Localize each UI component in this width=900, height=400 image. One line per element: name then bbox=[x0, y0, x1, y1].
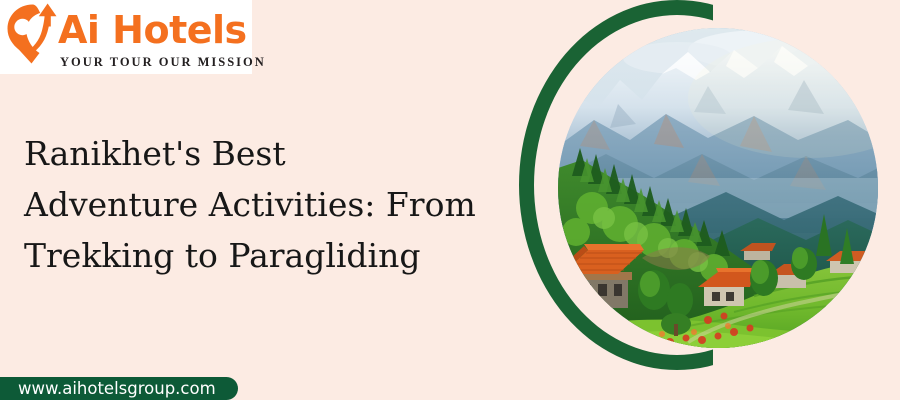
hero-visual bbox=[500, 0, 900, 400]
logo-wordmark: Ai Hotels bbox=[58, 8, 247, 52]
website-url-bar[interactable]: www.aihotelsgroup.com bbox=[0, 377, 238, 400]
headline-line-1: Ranikhet's Best bbox=[24, 128, 504, 179]
logo-block[interactable]: Ai Hotels YOUR TOUR OUR MISSION bbox=[0, 0, 252, 74]
location-pin-arrow-icon bbox=[2, 3, 62, 65]
logo-tagline: YOUR TOUR OUR MISSION bbox=[60, 55, 266, 70]
page-title: Ranikhet's Best Adventure Activities: Fr… bbox=[24, 128, 504, 281]
headline-line-3: Trekking to Paragliding bbox=[24, 230, 504, 281]
hero-photo bbox=[558, 28, 878, 348]
website-url-text: www.aihotelsgroup.com bbox=[18, 377, 216, 400]
blog-banner: Ai Hotels YOUR TOUR OUR MISSION Ranikhet… bbox=[0, 0, 900, 400]
headline-line-2: Adventure Activities: From bbox=[24, 179, 504, 230]
logo-row: Ai Hotels YOUR TOUR OUR MISSION bbox=[0, 0, 252, 74]
